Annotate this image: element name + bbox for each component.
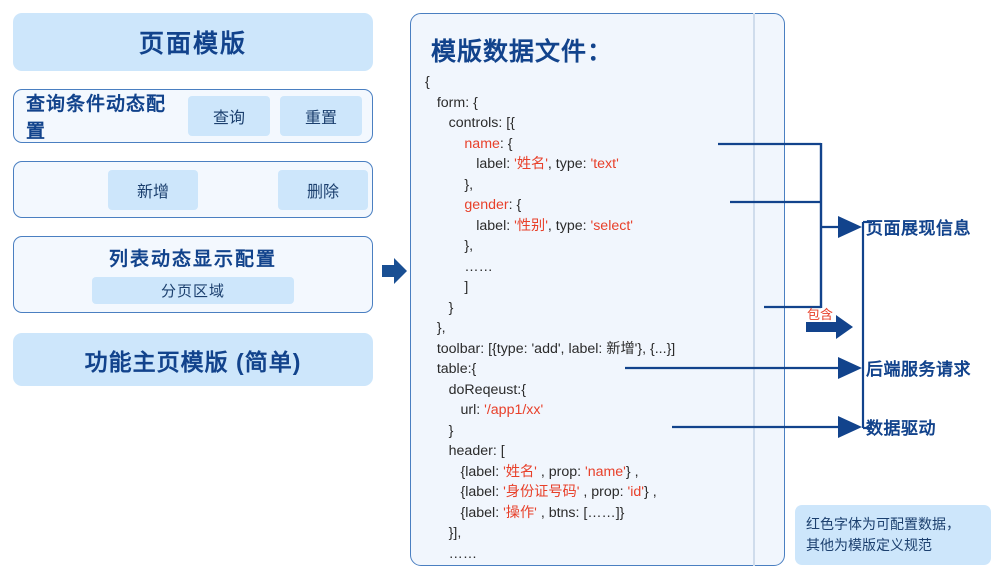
contains-annotation: 包含 bbox=[807, 304, 833, 323]
legend-note: 红色字体为可配置数据， 其他为模版定义规范 bbox=[795, 505, 991, 565]
connector-wires bbox=[0, 0, 1000, 581]
legend-note-line2: 其他为模版定义规范 bbox=[806, 535, 980, 556]
legend-note-line1: 红色字体为可配置数据， bbox=[806, 514, 980, 535]
label-page-display-info: 页面展现信息 bbox=[866, 214, 971, 239]
diagram-canvas: 页面模版 查询条件动态配置 查询 重置 新增 删除 列表动态显示配置 分页区域 … bbox=[0, 0, 1000, 581]
label-data-driven: 数据驱动 bbox=[866, 414, 936, 439]
label-backend-service-request: 后端服务请求 bbox=[866, 355, 971, 380]
